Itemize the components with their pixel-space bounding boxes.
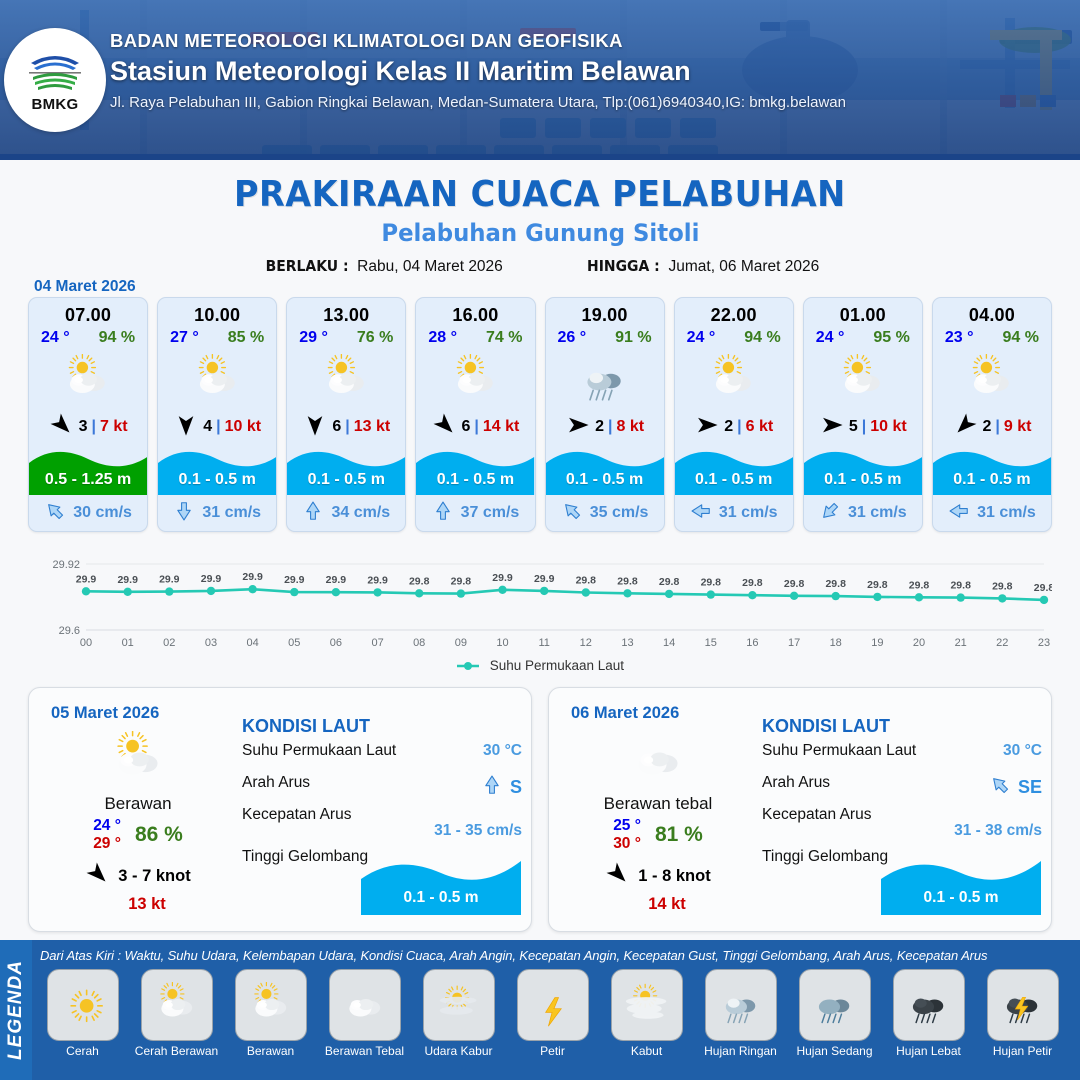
daily-wind: 1 - 8 knot xyxy=(563,861,753,892)
hingga-value: Jumat, 06 Maret 2026 xyxy=(668,258,819,275)
svg-text:23: 23 xyxy=(1038,637,1050,649)
svg-text:01: 01 xyxy=(122,637,134,649)
svg-text:29.8: 29.8 xyxy=(742,577,763,589)
sst-label: Suhu Permukaan Laut xyxy=(762,742,916,760)
bmkg-emblem-icon xyxy=(23,47,87,95)
weather-condition-icon xyxy=(29,349,147,411)
legend-section: LEGENDA Dari Atas Kiri : Waktu, Suhu Uda… xyxy=(0,940,1080,1080)
legend-item-label: Cerah Berawan xyxy=(134,1044,219,1058)
daily-wind-range: 1 - 8 knot xyxy=(638,867,710,886)
svg-text:29.8: 29.8 xyxy=(451,576,472,588)
legend-item: Cerah Berawan xyxy=(134,969,219,1058)
legend-tab-label: LEGENDA xyxy=(5,960,27,1060)
legend-icon-berawan-tebal xyxy=(329,969,401,1041)
svg-text:29.6: 29.6 xyxy=(59,625,80,637)
card-humidity: 85 % xyxy=(228,329,264,347)
card-temperature: 27 ° xyxy=(170,329,199,347)
svg-text:29.8: 29.8 xyxy=(950,580,971,592)
daily-wave-graphic: 0.1 - 0.5 m xyxy=(881,855,1041,915)
gust-value: 13 kt xyxy=(354,418,390,436)
svg-text:06: 06 xyxy=(330,637,342,649)
wind-speed-value: 2 xyxy=(724,418,733,436)
daily-temp-range: 25 ° 30 ° xyxy=(613,817,641,854)
card-wind: 2 | 8 kt xyxy=(546,411,664,443)
card-humidity: 95 % xyxy=(873,329,909,347)
card-time: 01.00 xyxy=(804,298,922,326)
legend-items: Cerah Cerah Berawan Berawan Berawan Te xyxy=(32,963,1080,1058)
card-current: 31 cm/s xyxy=(933,495,1051,531)
wind-speed-value: 6 xyxy=(462,418,471,436)
title-section: PRAKIRAAN CUACA PELABUHAN Pelabuhan Gunu… xyxy=(0,160,1080,276)
daily-humidity: 81 % xyxy=(655,823,703,847)
hourly-day-label: 04 Maret 2026 xyxy=(34,278,136,296)
page-subtitle: Pelabuhan Gunung Sitoli xyxy=(381,219,699,247)
card-temp-humidity: 24 ° 94 % xyxy=(675,326,793,347)
card-temp-humidity: 28 ° 74 % xyxy=(416,326,534,347)
chart-legend-label: Suhu Permukaan Laut xyxy=(490,658,624,673)
legend-icon-hujan-sedang xyxy=(799,969,871,1041)
hourly-card: 04.00 23 ° 94 % 2 | 9 kt 0.1 - 0.5 m xyxy=(932,297,1052,532)
current-speed-value: 35 cm/s xyxy=(590,504,649,522)
sea-row-current-speed: Kecepatan Arus 31 - 35 cm/s xyxy=(242,806,522,840)
gust-value: 10 kt xyxy=(225,418,261,436)
wave-height-block: 0.1 - 0.5 m xyxy=(416,445,534,495)
wind-separator: | xyxy=(474,418,478,436)
svg-text:08: 08 xyxy=(413,637,425,649)
weather-condition-icon xyxy=(287,349,405,411)
current-direction-label: Arah Arus xyxy=(242,774,310,792)
current-direction-arrow-icon xyxy=(432,500,454,527)
card-temperature: 23 ° xyxy=(945,329,974,347)
hourly-card: 22.00 24 ° 94 % 2 | 6 kt 0.1 - 0.5 m xyxy=(674,297,794,532)
svg-text:17: 17 xyxy=(788,637,800,649)
berlaku-value: Rabu, 04 Maret 2026 xyxy=(357,258,503,275)
card-wind: 2 | 9 kt xyxy=(933,411,1051,443)
svg-text:29.8: 29.8 xyxy=(409,575,430,587)
hourly-card: 07.00 24 ° 94 % 3 | 7 kt 0.5 - 1.25 m xyxy=(28,297,148,532)
gust-value: 6 kt xyxy=(746,418,774,436)
card-humidity: 94 % xyxy=(744,329,780,347)
daily-date: 06 Maret 2026 xyxy=(571,704,679,723)
wind-direction-arrow-icon xyxy=(432,412,458,443)
svg-text:29.9: 29.9 xyxy=(284,574,305,586)
card-time: 22.00 xyxy=(675,298,793,326)
svg-text:29.8: 29.8 xyxy=(659,576,680,588)
legend-icon-kabut xyxy=(611,969,683,1041)
hourly-card: 13.00 29 ° 76 % 6 | 13 kt 0.1 - 0.5 m xyxy=(286,297,406,532)
bmkg-logo: BMKG xyxy=(4,28,106,132)
legend-item: Cerah xyxy=(40,969,125,1058)
legend-item-label: Hujan Petir xyxy=(980,1044,1065,1058)
station-address: Jl. Raya Pelabuhan III, Gabion Ringkai B… xyxy=(110,94,1060,111)
card-humidity: 74 % xyxy=(486,329,522,347)
wave-height-block: 0.1 - 0.5 m xyxy=(158,445,276,495)
wind-speed-value: 4 xyxy=(203,418,212,436)
card-temperature: 24 ° xyxy=(687,329,716,347)
current-speed-label: Kecepatan Arus xyxy=(762,806,871,824)
svg-text:16: 16 xyxy=(746,637,758,649)
gust-value: 9 kt xyxy=(1004,418,1032,436)
wind-direction-arrow-icon xyxy=(173,412,199,443)
daily-condition: Berawan xyxy=(43,794,233,814)
svg-text:29.8: 29.8 xyxy=(701,577,722,589)
card-time: 19.00 xyxy=(546,298,664,326)
daily-weather-icon xyxy=(43,728,233,792)
legend-item-label: Berawan Tebal xyxy=(322,1044,407,1058)
card-humidity: 76 % xyxy=(357,329,393,347)
daily-forecast-panel: 06 Maret 2026 Berawan tebal 25 ° 30 ° 81… xyxy=(548,687,1052,932)
card-time: 10.00 xyxy=(158,298,276,326)
wave-height-label: Tinggi Gelombang xyxy=(762,848,888,866)
legend-item-label: Hujan Sedang xyxy=(792,1044,877,1058)
svg-text:29.8: 29.8 xyxy=(992,580,1013,592)
legend-body: Dari Atas Kiri : Waktu, Suhu Udara, Kele… xyxy=(32,940,1080,1080)
card-current: 30 cm/s xyxy=(29,495,147,531)
svg-text:00: 00 xyxy=(80,637,92,649)
card-temperature: 28 ° xyxy=(428,329,457,347)
svg-text:20: 20 xyxy=(913,637,925,649)
card-time: 04.00 xyxy=(933,298,1051,326)
wind-speed-value: 6 xyxy=(332,418,341,436)
current-speed-value: 34 cm/s xyxy=(331,504,390,522)
card-current: 31 cm/s xyxy=(158,495,276,531)
svg-text:29.9: 29.9 xyxy=(326,574,347,586)
gust-value: 7 kt xyxy=(100,418,128,436)
wave-height-block: 0.1 - 0.5 m xyxy=(933,445,1051,495)
wave-height-value: 0.1 - 0.5 m xyxy=(546,471,664,489)
daily-wave-graphic: 0.1 - 0.5 m xyxy=(361,855,521,915)
card-temperature: 24 ° xyxy=(816,329,845,347)
sst-value: 30 °C xyxy=(1003,742,1042,760)
current-speed-value: 37 cm/s xyxy=(461,504,520,522)
legend-icon-cerah xyxy=(47,969,119,1041)
current-direction-arrow-icon xyxy=(948,500,970,527)
legend-item-label: Cerah xyxy=(40,1044,125,1058)
card-temperature: 26 ° xyxy=(558,329,587,347)
wave-height-block: 0.1 - 0.5 m xyxy=(287,445,405,495)
chart-legend: Suhu Permukaan Laut xyxy=(28,658,1052,673)
card-wind: 4 | 10 kt xyxy=(158,411,276,443)
wind-direction-arrow-icon xyxy=(565,412,591,443)
sst-value: 30 °C xyxy=(483,742,522,760)
card-temp-humidity: 23 ° 94 % xyxy=(933,326,1051,347)
svg-text:15: 15 xyxy=(705,637,717,649)
daily-gust: 13 kt xyxy=(43,895,233,914)
card-temperature: 29 ° xyxy=(299,329,328,347)
current-direction-arrow-icon xyxy=(173,500,195,527)
svg-text:29.9: 29.9 xyxy=(534,573,555,585)
hourly-card: 01.00 24 ° 95 % 5 | 10 kt 0.1 - 0.5 m xyxy=(803,297,923,532)
svg-text:19: 19 xyxy=(871,637,883,649)
svg-text:29.9: 29.9 xyxy=(367,574,388,586)
svg-text:21: 21 xyxy=(955,637,967,649)
page-title: PRAKIRAAN CUACA PELABUHAN xyxy=(234,174,846,215)
weather-condition-icon xyxy=(416,349,534,411)
card-temperature: 24 ° xyxy=(41,329,70,347)
daily-wind-direction-arrow-icon xyxy=(605,861,631,892)
wind-speed-value: 2 xyxy=(595,418,604,436)
card-current: 34 cm/s xyxy=(287,495,405,531)
legend-icon-cerah-berawan xyxy=(141,969,213,1041)
current-direction-arrow-icon xyxy=(44,500,66,527)
sea-row-current-speed: Kecepatan Arus 31 - 38 cm/s xyxy=(762,806,1042,840)
wave-height-block: 0.1 - 0.5 m xyxy=(546,445,664,495)
sst-legend-swatch-icon xyxy=(456,661,480,671)
berlaku-label: BERLAKU : xyxy=(265,257,348,275)
legend-icon-udara-kabur xyxy=(423,969,495,1041)
wind-separator: | xyxy=(345,418,349,436)
card-temp-humidity: 24 ° 95 % xyxy=(804,326,922,347)
sea-condition-title: KONDISI LAUT xyxy=(242,716,522,737)
legend-item: Hujan Lebat xyxy=(886,969,971,1058)
legend-icon-petir xyxy=(517,969,589,1041)
wind-separator: | xyxy=(737,418,741,436)
daily-temp-humidity: 25 ° 30 ° 81 % xyxy=(563,817,753,854)
card-wind: 2 | 6 kt xyxy=(675,411,793,443)
wave-height-label: Tinggi Gelombang xyxy=(242,848,368,866)
wave-height-value: 0.1 - 0.5 m xyxy=(804,471,922,489)
current-speed-value: 30 cm/s xyxy=(73,504,132,522)
daily-summary: Berawan 24 ° 29 ° 86 % 3 - 7 knot 13 kt xyxy=(43,728,233,914)
hourly-card: 19.00 26 ° 91 % 2 | 8 kt 0.1 - 0.5 m 35 … xyxy=(545,297,665,532)
wind-separator: | xyxy=(995,418,999,436)
card-humidity: 94 % xyxy=(99,329,135,347)
wind-speed-value: 3 xyxy=(79,418,88,436)
card-temp-humidity: 24 ° 94 % xyxy=(29,326,147,347)
daily-temp-min: 24 ° xyxy=(93,817,121,835)
current-direction-arrow-icon xyxy=(561,500,583,527)
bmkg-logo-text: BMKG xyxy=(31,96,78,113)
daily-forecast-row: 05 Maret 2026 Berawan 24 ° 29 ° 86 % xyxy=(28,687,1052,932)
svg-text:29.8: 29.8 xyxy=(825,578,846,590)
weather-condition-icon xyxy=(675,349,793,411)
card-wind: 3 | 7 kt xyxy=(29,411,147,443)
daily-weather-icon xyxy=(563,728,753,792)
daily-temp-min: 25 ° xyxy=(613,817,641,835)
hourly-forecast-row: 07.00 24 ° 94 % 3 | 7 kt 0.5 - 1.25 m xyxy=(28,297,1052,532)
legend-item-label: Udara Kabur xyxy=(416,1044,501,1058)
wave-height-value: 0.1 - 0.5 m xyxy=(158,471,276,489)
card-current: 35 cm/s xyxy=(546,495,664,531)
header-text-block: BADAN METEOROLOGI KLIMATOLOGI DAN GEOFIS… xyxy=(110,30,1060,111)
current-direction-arrow-icon xyxy=(302,500,324,527)
current-direction-label: Arah Arus xyxy=(762,774,830,792)
svg-text:29.9: 29.9 xyxy=(242,571,263,583)
current-speed-value: 31 cm/s xyxy=(848,504,907,522)
wave-height-value: 0.1 - 0.5 m xyxy=(675,471,793,489)
legend-item-label: Hujan Ringan xyxy=(698,1044,783,1058)
legend-note: Dari Atas Kiri : Waktu, Suhu Udara, Kele… xyxy=(32,940,1080,963)
legend-item: Udara Kabur xyxy=(416,969,501,1058)
svg-text:29.8: 29.8 xyxy=(784,578,805,590)
gust-value: 10 kt xyxy=(870,418,906,436)
sea-condition-title: KONDISI LAUT xyxy=(762,716,1042,737)
svg-text:09: 09 xyxy=(455,637,467,649)
card-humidity: 91 % xyxy=(615,329,651,347)
daily-humidity: 86 % xyxy=(135,823,183,847)
wind-direction-arrow-icon xyxy=(819,412,845,443)
wind-direction-arrow-icon xyxy=(694,412,720,443)
svg-text:29.9: 29.9 xyxy=(76,573,97,585)
wind-speed-value: 2 xyxy=(982,418,991,436)
svg-text:29.9: 29.9 xyxy=(201,573,222,585)
wind-separator: | xyxy=(91,418,95,436)
legend-item: Hujan Sedang xyxy=(792,969,877,1058)
hourly-card: 16.00 28 ° 74 % 6 | 14 kt 0.1 - 0.5 m xyxy=(415,297,535,532)
daily-current-direction-arrow-icon xyxy=(481,774,503,801)
svg-text:29.92: 29.92 xyxy=(52,559,80,571)
current-speed-value: 31 cm/s xyxy=(202,504,261,522)
hourly-card: 10.00 27 ° 85 % 4 | 10 kt 0.1 - 0.5 m xyxy=(157,297,277,532)
card-temp-humidity: 26 ° 91 % xyxy=(546,326,664,347)
daily-gust: 14 kt xyxy=(563,895,753,914)
current-direction-arrow-icon xyxy=(819,500,841,527)
wind-separator: | xyxy=(862,418,866,436)
legend-icon-hujan-lebat xyxy=(893,969,965,1041)
current-speed-value: 31 - 35 cm/s xyxy=(242,822,522,840)
wave-height-block: 0.5 - 1.25 m xyxy=(29,445,147,495)
wind-speed-value: 5 xyxy=(849,418,858,436)
sea-row-current-dir: Arah Arus S xyxy=(242,774,522,806)
svg-text:29.8: 29.8 xyxy=(576,575,597,587)
wind-direction-arrow-icon xyxy=(49,412,75,443)
svg-text:29.8: 29.8 xyxy=(867,579,888,591)
current-direction-value: S xyxy=(510,777,522,798)
wind-direction-arrow-icon xyxy=(302,412,328,443)
wave-height-block: 0.1 - 0.5 m xyxy=(675,445,793,495)
svg-text:29.8: 29.8 xyxy=(909,579,930,591)
card-wind: 6 | 14 kt xyxy=(416,411,534,443)
daily-wind-direction-arrow-icon xyxy=(85,861,111,892)
daily-forecast-panel: 05 Maret 2026 Berawan 24 ° 29 ° 86 % xyxy=(28,687,532,932)
wave-height-value: 0.5 - 1.25 m xyxy=(29,471,147,489)
legend-icon-hujan-petir xyxy=(987,969,1059,1041)
gust-value: 14 kt xyxy=(483,418,519,436)
current-direction-value-group: S xyxy=(481,774,522,801)
wave-height-value: 0.1 - 0.5 m xyxy=(416,471,534,489)
gust-value: 8 kt xyxy=(616,418,644,436)
daily-wave-value: 0.1 - 0.5 m xyxy=(361,889,521,907)
card-current: 31 cm/s xyxy=(675,495,793,531)
svg-text:22: 22 xyxy=(996,637,1008,649)
weather-condition-icon xyxy=(933,349,1051,411)
svg-text:02: 02 xyxy=(163,637,175,649)
wind-separator: | xyxy=(216,418,220,436)
daily-summary: Berawan tebal 25 ° 30 ° 81 % 1 - 8 knot … xyxy=(563,728,753,914)
svg-text:03: 03 xyxy=(205,637,217,649)
daily-wave-value: 0.1 - 0.5 m xyxy=(881,889,1041,907)
sea-row-current-dir: Arah Arus SE xyxy=(762,774,1042,806)
svg-text:11: 11 xyxy=(538,637,549,649)
legend-item-label: Hujan Lebat xyxy=(886,1044,971,1058)
sst-label: Suhu Permukaan Laut xyxy=(242,742,396,760)
current-direction-value-group: SE xyxy=(989,774,1042,801)
svg-text:10: 10 xyxy=(496,637,508,649)
hingga-label: HINGGA : xyxy=(587,257,660,275)
legend-item-label: Kabut xyxy=(604,1044,689,1058)
weather-condition-icon xyxy=(158,349,276,411)
current-speed-value: 31 cm/s xyxy=(977,504,1036,522)
sst-chart: 29.9229.629.90029.90129.90229.90329.9042… xyxy=(28,556,1052,676)
svg-text:07: 07 xyxy=(371,637,383,649)
current-speed-value: 31 - 38 cm/s xyxy=(762,822,1042,840)
legend-icon-berawan xyxy=(235,969,307,1041)
legend-item: Petir xyxy=(510,969,595,1058)
legend-item-label: Berawan xyxy=(228,1044,313,1058)
legend-tab: LEGENDA xyxy=(0,940,32,1080)
card-wind: 6 | 13 kt xyxy=(287,411,405,443)
current-speed-label: Kecepatan Arus xyxy=(242,806,351,824)
daily-condition: Berawan tebal xyxy=(563,794,753,814)
svg-text:04: 04 xyxy=(246,637,258,649)
station-name: Stasiun Meteorologi Kelas II Maritim Bel… xyxy=(110,56,1060,87)
svg-text:14: 14 xyxy=(663,637,675,649)
validity-line: BERLAKU : Rabu, 04 Maret 2026 HINGGA : J… xyxy=(0,257,1080,276)
current-speed-value: 31 cm/s xyxy=(719,504,778,522)
daily-wind-range: 3 - 7 knot xyxy=(118,867,190,886)
card-time: 13.00 xyxy=(287,298,405,326)
daily-date: 05 Maret 2026 xyxy=(51,704,159,723)
card-time: 16.00 xyxy=(416,298,534,326)
wave-height-value: 0.1 - 0.5 m xyxy=(933,471,1051,489)
daily-wind: 3 - 7 knot xyxy=(43,861,233,892)
card-wind: 5 | 10 kt xyxy=(804,411,922,443)
legend-item: Hujan Petir xyxy=(980,969,1065,1058)
current-direction-arrow-icon xyxy=(690,500,712,527)
legend-item: Berawan xyxy=(228,969,313,1058)
daily-temp-range: 24 ° 29 ° xyxy=(93,817,121,854)
card-current: 37 cm/s xyxy=(416,495,534,531)
legend-item: Kabut xyxy=(604,969,689,1058)
wave-height-value: 0.1 - 0.5 m xyxy=(287,471,405,489)
wind-separator: | xyxy=(608,418,612,436)
svg-text:13: 13 xyxy=(621,637,633,649)
legend-item: Berawan Tebal xyxy=(322,969,407,1058)
current-direction-value: SE xyxy=(1018,777,1042,798)
svg-text:05: 05 xyxy=(288,637,300,649)
svg-text:29.8: 29.8 xyxy=(1034,582,1052,594)
legend-icon-hujan-ringan xyxy=(705,969,777,1041)
card-humidity: 94 % xyxy=(1003,329,1039,347)
card-temp-humidity: 27 ° 85 % xyxy=(158,326,276,347)
legend-item-label: Petir xyxy=(510,1044,595,1058)
wind-direction-arrow-icon xyxy=(952,412,978,443)
weather-condition-icon xyxy=(546,349,664,411)
agency-name: BADAN METEOROLOGI KLIMATOLOGI DAN GEOFIS… xyxy=(110,30,1060,52)
wave-height-block: 0.1 - 0.5 m xyxy=(804,445,922,495)
svg-text:29.8: 29.8 xyxy=(617,575,638,587)
weather-condition-icon xyxy=(804,349,922,411)
card-time: 07.00 xyxy=(29,298,147,326)
daily-temp-max: 30 ° xyxy=(613,835,641,853)
page-header: BMKG BADAN METEOROLOGI KLIMATOLOGI DAN G… xyxy=(0,0,1080,160)
daily-temp-max: 29 ° xyxy=(93,835,121,853)
daily-current-direction-arrow-icon xyxy=(989,774,1011,801)
card-current: 31 cm/s xyxy=(804,495,922,531)
legend-item: Hujan Ringan xyxy=(698,969,783,1058)
svg-text:29.9: 29.9 xyxy=(159,574,180,586)
svg-text:29.9: 29.9 xyxy=(117,574,138,586)
svg-text:12: 12 xyxy=(580,637,592,649)
sea-row-sst: Suhu Permukaan Laut 30 °C xyxy=(242,742,522,774)
card-temp-humidity: 29 ° 76 % xyxy=(287,326,405,347)
svg-text:18: 18 xyxy=(830,637,842,649)
daily-temp-humidity: 24 ° 29 ° 86 % xyxy=(43,817,233,854)
svg-text:29.9: 29.9 xyxy=(492,572,513,584)
header-bottom-bar xyxy=(0,154,1080,160)
